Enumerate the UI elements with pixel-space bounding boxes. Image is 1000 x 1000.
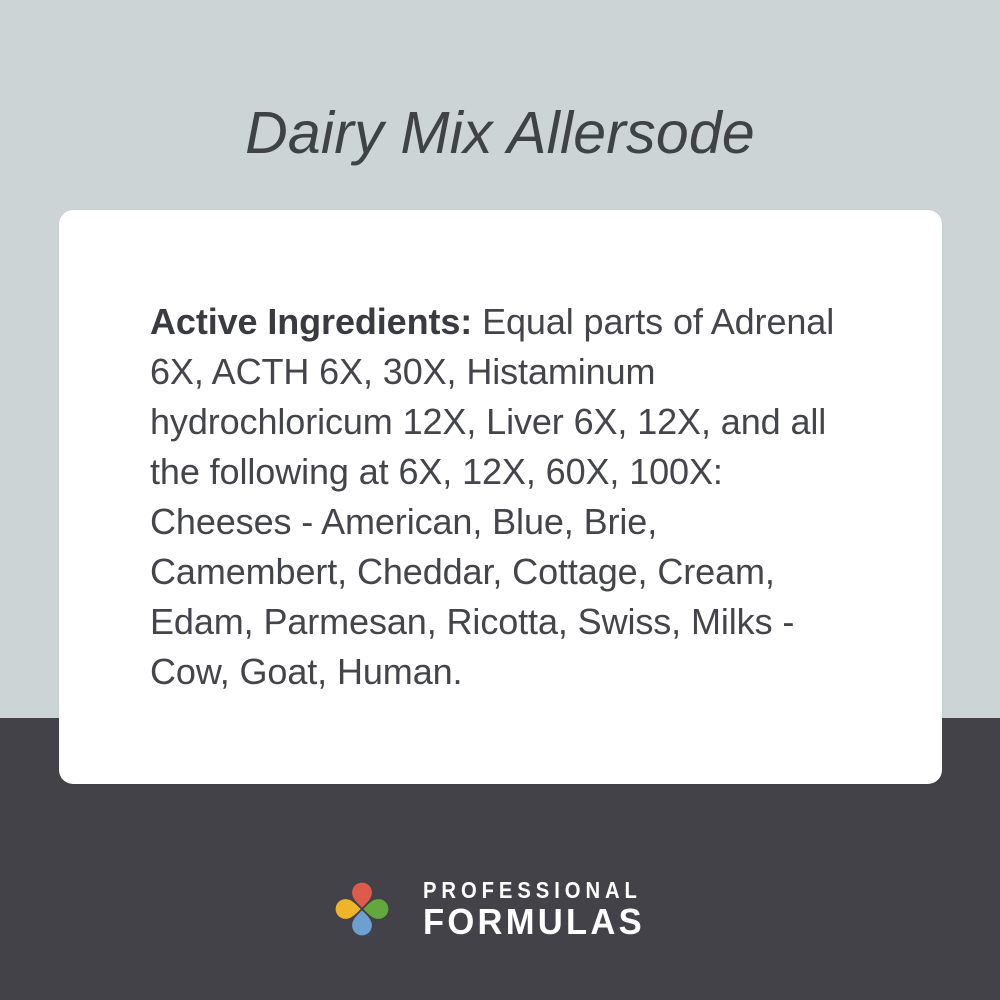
ingredients-card-body: Active Ingredients: Equal parts of Adren…: [150, 297, 860, 697]
active-ingredients-paragraph: Active Ingredients: Equal parts of Adren…: [150, 297, 860, 697]
brand-wordmark: PROFESSIONAL FORMULAS: [423, 877, 672, 941]
brand-logo: PROFESSIONAL FORMULAS: [0, 876, 1000, 942]
brand-name-professional: PROFESSIONAL: [423, 877, 642, 903]
page-title: Dairy Mix Allersode: [0, 98, 1000, 169]
active-ingredients-body: Equal parts of Adrenal 6X, ACTH 6X, 30X,…: [150, 301, 834, 692]
product-label-page: Dairy Mix Allersode Active Ingredients: …: [0, 0, 1000, 1000]
ingredients-card: Active Ingredients: Equal parts of Adren…: [59, 210, 942, 784]
brand-name-formulas: FORMULAS: [423, 903, 662, 941]
active-ingredients-label: Active Ingredients:: [150, 301, 472, 342]
four-petal-flower-logo-icon: [329, 876, 395, 942]
